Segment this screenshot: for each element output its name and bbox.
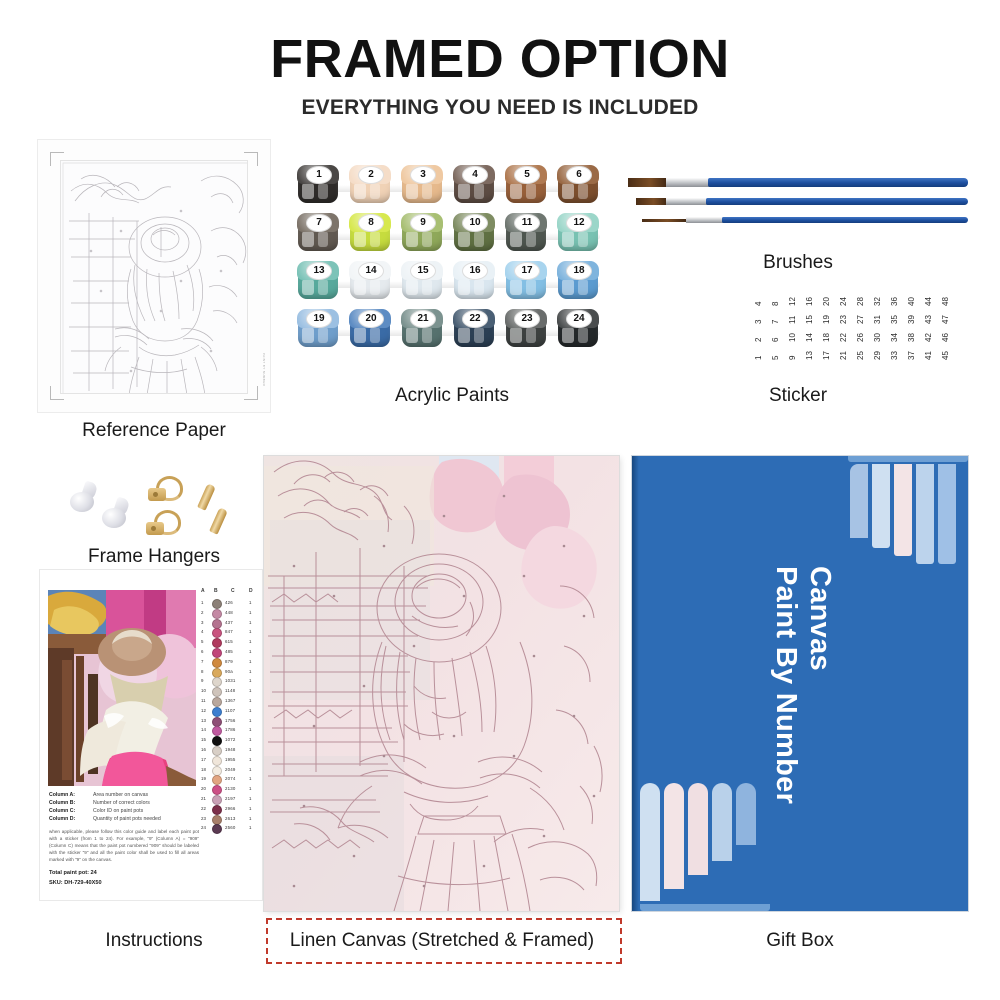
chart-cell-colorid: 437 <box>225 620 233 625</box>
gift-box-image: Canvas Paint By Number <box>632 456 968 911</box>
paint-pot-12[interactable]: 12 <box>556 213 600 253</box>
chart-cell-qty: 1 <box>249 629 251 634</box>
paint-pot-number: 5 <box>514 166 540 184</box>
chart-cell-qty: 1 <box>249 639 251 644</box>
paint-pot-gloss <box>510 183 522 199</box>
chart-row: 1619481 <box>200 745 256 755</box>
reference-paper-image: PAINT BY NUMBER <box>38 140 270 412</box>
caption-brushes: Brushes <box>628 252 968 274</box>
paint-pot-gloss <box>458 327 470 343</box>
gift-box-line1: Canvas <box>803 566 836 671</box>
sticker-number: 23 <box>839 315 848 324</box>
paint-pot-gloss <box>354 231 366 247</box>
chart-cell-colorid: 1367 <box>225 698 236 703</box>
sticker-number: 13 <box>805 351 814 360</box>
paint-pot-15[interactable]: 15 <box>400 261 444 301</box>
sticker-number: 12 <box>788 297 797 306</box>
paint-pot-gloss <box>370 279 380 295</box>
sku-label: SKU: <box>49 880 63 886</box>
paint-pot-number: 24 <box>566 310 592 328</box>
chart-cell-qty: 1 <box>249 806 251 811</box>
chart-cell-qty: 1 <box>249 816 251 821</box>
chart-cell-colorid: 2197 <box>225 796 236 801</box>
paint-pot-gloss <box>302 183 314 199</box>
paint-pot-number: 3 <box>410 166 436 184</box>
sticker-number: 5 <box>771 356 780 360</box>
gift-box-title: Canvas Paint By Number <box>632 456 850 911</box>
paint-pot-row: 192021222324 <box>296 309 608 353</box>
legend-key: Column B: <box>49 800 75 806</box>
chart-cell-area: 13 <box>201 718 206 723</box>
brush-bristles <box>642 219 688 222</box>
paint-pot-9[interactable]: 9 <box>400 213 444 253</box>
chart-cell-qty: 1 <box>249 708 251 713</box>
chart-cell-qty: 1 <box>249 825 251 830</box>
paint-pot-gloss <box>578 231 588 247</box>
paint-pot-5[interactable]: 5 <box>504 165 548 205</box>
chart-row: 2425601 <box>200 823 256 833</box>
paint-pot-number: 10 <box>462 214 488 232</box>
caption-gift-box: Gift Box <box>632 930 968 952</box>
paint-pot-number: 16 <box>462 262 488 280</box>
paint-pot-number: 20 <box>358 310 384 328</box>
sticker-number: 37 <box>907 351 916 360</box>
paint-pot-gloss <box>354 279 366 295</box>
sticker-number: 18 <box>822 333 831 342</box>
chart-cell-area: 11 <box>201 698 206 703</box>
canvas-lineart-svg <box>264 456 619 911</box>
sticker-number: 29 <box>873 351 882 360</box>
paint-pot-gloss <box>578 183 588 199</box>
paint-pot-gloss <box>526 183 536 199</box>
sticker-number: 10 <box>788 333 797 342</box>
paint-pot-gloss <box>318 279 328 295</box>
sticker-number: 15 <box>805 315 814 324</box>
brush-bristles <box>636 198 668 205</box>
chart-cell-area: 24 <box>201 825 206 830</box>
legend-row: Column C:Color ID on paint pots <box>49 808 201 816</box>
chart-cell-qty: 1 <box>249 688 251 693</box>
legend-row: Column B:Number of correct colors <box>49 800 201 808</box>
total-value: 24 <box>91 870 97 876</box>
chart-cell-qty: 1 <box>249 727 251 732</box>
paint-pot-number: 6 <box>566 166 592 184</box>
paint-pot-gloss <box>406 231 418 247</box>
chart-row: 2021301 <box>200 784 256 794</box>
paint-pot-gloss <box>354 183 366 199</box>
caption-reference-paper: Reference Paper <box>38 420 270 442</box>
paint-pot-2[interactable]: 2 <box>348 165 392 205</box>
paint-pot-gloss <box>318 327 328 343</box>
instructions-artwork <box>48 590 196 786</box>
chart-cell-area: 1 <box>201 600 203 605</box>
sticker-sheet: 4812162024283236404448371115192327313539… <box>748 290 956 362</box>
chart-cell-qty: 1 <box>249 767 251 772</box>
paint-pot-10[interactable]: 10 <box>452 213 496 253</box>
sticker-number: 31 <box>873 315 882 324</box>
chart-row: 1719551 <box>200 755 256 765</box>
chart-cell-colorid: 1786 <box>225 727 236 732</box>
sticker-number: 3 <box>754 320 763 324</box>
sticker-number: 33 <box>890 351 899 360</box>
paint-pot-24[interactable]: 24 <box>556 309 600 349</box>
chart-cell-area: 5 <box>201 639 203 644</box>
page-subtitle: EVERYTHING YOU NEED IS INCLUDED <box>0 96 1000 120</box>
d-ring-hanger-icon <box>146 510 176 536</box>
paint-pot-number: 4 <box>462 166 488 184</box>
sticker-number: 20 <box>822 297 831 306</box>
instructions-paragraph: when applicable, please follow this colo… <box>49 828 199 863</box>
chart-cell-qty: 1 <box>249 659 251 664</box>
sticker-number: 38 <box>907 333 916 342</box>
sticker-number: 11 <box>788 316 797 324</box>
sticker-number: 7 <box>771 320 780 324</box>
sticker-number: 36 <box>890 297 899 306</box>
paint-pot-gloss <box>406 279 418 295</box>
sticker-number: 48 <box>941 297 950 306</box>
sticker-number: 21 <box>839 351 848 360</box>
chart-cell-area: 19 <box>201 776 206 781</box>
chart-row: 1510721 <box>200 735 256 745</box>
chart-header-c: C <box>231 588 235 594</box>
paint-pot-number: 23 <box>514 310 540 328</box>
paint-pot-gloss <box>318 183 328 199</box>
sticker-number: 40 <box>907 297 916 306</box>
legend-value: Color ID on paint pots <box>93 808 143 814</box>
paint-pot-gloss <box>474 231 484 247</box>
chart-cell-colorid: 615 <box>225 639 233 644</box>
chart-cell-qty: 1 <box>249 786 251 791</box>
chart-cell-qty: 1 <box>249 600 251 605</box>
paint-pot-6[interactable]: 6 <box>556 165 600 205</box>
chart-cell-qty: 1 <box>249 698 251 703</box>
chart-cell-area: 9 <box>201 678 203 683</box>
paint-pot-gloss <box>562 183 574 199</box>
linen-canvas-image <box>264 456 619 911</box>
chart-cell-area: 22 <box>201 806 206 811</box>
sticker-number: 19 <box>822 315 831 324</box>
paint-pot-number: 17 <box>514 262 540 280</box>
chart-cell-area: 23 <box>201 816 206 821</box>
sticker-number: 1 <box>754 356 763 360</box>
legend-value: Area number on canvas <box>93 792 148 798</box>
legend-key: Column D: <box>49 816 75 822</box>
legend-row: Column D:Quantity of paint pots needed <box>49 816 201 824</box>
chart-cell-colorid: 2613 <box>225 816 236 821</box>
paint-pot-gloss <box>458 231 470 247</box>
sticker-number: 28 <box>856 297 865 306</box>
paint-pot-number: 14 <box>358 262 384 280</box>
sticker-number: 32 <box>873 297 882 306</box>
instructions-color-chart: A B C D 14261244813437148471561516485178… <box>200 588 256 834</box>
chart-cell-qty: 1 <box>249 757 251 762</box>
paint-pot-number: 1 <box>306 166 332 184</box>
chart-cell-colorid: 879 <box>225 659 233 664</box>
chart-cell-colorid: 1148 <box>225 688 235 693</box>
page-title: FRAMED OPTION <box>0 28 1000 90</box>
sticker-number: 44 <box>924 297 933 306</box>
sticker-number: 17 <box>822 351 831 360</box>
paint-pot-14[interactable]: 14 <box>348 261 392 301</box>
paint-pot-gloss <box>526 231 536 247</box>
chart-cell-area: 14 <box>201 727 206 732</box>
paint-pot-gloss <box>422 327 432 343</box>
paint-pot-gloss <box>526 327 536 343</box>
chart-header-row: A B C D <box>200 588 256 597</box>
chart-row: 2326131 <box>200 814 256 824</box>
paint-pot-13[interactable]: 13 <box>296 261 340 301</box>
chart-row: 1211071 <box>200 706 256 716</box>
chart-cell-area: 8 <box>201 669 203 674</box>
paint-pot-3[interactable]: 3 <box>400 165 444 205</box>
chart-row: 24481 <box>200 608 256 618</box>
sku-value: DH-729-40X50 <box>64 880 101 886</box>
chart-cell-qty: 1 <box>249 610 251 615</box>
sticker-number: 35 <box>890 315 899 324</box>
chart-cell-area: 15 <box>201 737 206 742</box>
chart-cell-colorid: 847 <box>225 629 233 634</box>
chart-cell-area: 3 <box>201 620 203 625</box>
chart-cell-colorid: 426 <box>225 600 233 605</box>
paint-pot-number: 21 <box>410 310 436 328</box>
chart-row: 78791 <box>200 657 256 667</box>
chart-cell-area: 20 <box>201 786 206 791</box>
caption-acrylic-paints: Acrylic Paints <box>296 385 608 407</box>
chart-cell-colorid: 1756 <box>225 718 236 723</box>
chart-cell-colorid: 1031 <box>225 678 236 683</box>
sticker-number: 45 <box>941 351 950 360</box>
brush-flat <box>628 178 968 187</box>
instructions-legend: Column A:Area number on canvasColumn B:N… <box>49 792 201 824</box>
sticker-number: 42 <box>924 333 933 342</box>
chart-cell-colorid: 2130 <box>225 786 236 791</box>
chart-row: 56151 <box>200 637 256 647</box>
caption-frame-hangers: Frame Hangers <box>38 546 270 568</box>
chart-cell-qty: 1 <box>249 747 251 752</box>
chart-cell-colorid: 485 <box>225 649 233 654</box>
paint-pot-gloss <box>578 327 588 343</box>
paint-pot-gloss <box>370 183 380 199</box>
instructions-total-paint-pot: Total paint pot: 24 <box>49 870 97 876</box>
legend-row: Column A:Area number on canvas <box>49 792 201 800</box>
chart-row: 14261 <box>200 598 256 608</box>
paint-pot-gloss <box>474 327 484 343</box>
brush-handle <box>706 198 968 205</box>
sticker-number: 47 <box>941 315 950 324</box>
paint-pot-number: 2 <box>358 166 384 184</box>
gift-box-pattern-top <box>848 464 968 564</box>
paint-pot-16[interactable]: 16 <box>452 261 496 301</box>
sticker-number: 6 <box>771 338 780 342</box>
chart-cell-colorid: 2966 <box>225 806 236 811</box>
paint-pot-1[interactable]: 1 <box>296 165 340 205</box>
chart-cell-colorid: 2560 <box>225 825 236 830</box>
paint-pot-gloss <box>458 279 470 295</box>
paint-pot-18[interactable]: 18 <box>556 261 600 301</box>
paint-pot-gloss <box>562 279 574 295</box>
paint-pot-7[interactable]: 7 <box>296 213 340 253</box>
paint-pot-gloss <box>370 231 380 247</box>
wall-plug-icon <box>70 482 96 512</box>
chart-cell-qty: 1 <box>249 718 251 723</box>
brush-ferrule <box>686 217 724 223</box>
sticker-number: 41 <box>924 351 933 360</box>
chart-cell-area: 4 <box>201 629 203 634</box>
brush-round <box>636 198 968 205</box>
product-infographic: FRAMED OPTION EVERYTHING YOU NEED IS INC… <box>0 0 1000 1000</box>
chart-cell-area: 21 <box>201 796 206 801</box>
chart-cell-colorid: 1072 <box>225 737 236 742</box>
paint-pot-number: 18 <box>566 262 592 280</box>
sticker-number: 30 <box>873 333 882 342</box>
sticker-number: 26 <box>856 333 865 342</box>
chart-header-b: B <box>214 588 218 594</box>
paint-pot-4[interactable]: 4 <box>452 165 496 205</box>
brush-ferrule <box>666 198 708 205</box>
paint-pot-gloss <box>474 183 484 199</box>
chart-row: 890a1 <box>200 667 256 677</box>
brush-ferrule <box>666 178 712 187</box>
chart-row: 34371 <box>200 618 256 628</box>
chart-cell-colorid: 1948 <box>225 747 236 752</box>
paint-pot-20[interactable]: 20 <box>348 309 392 349</box>
chart-cell-qty: 1 <box>249 649 251 654</box>
chart-cell-area: 16 <box>201 747 206 752</box>
paint-pot-gloss <box>422 183 432 199</box>
paint-pot-22[interactable]: 22 <box>452 309 496 349</box>
sticker-number: 39 <box>907 315 916 324</box>
chart-row: 1113671 <box>200 696 256 706</box>
d-ring-hanger-icon <box>148 476 178 502</box>
paint-pot-gloss <box>318 231 328 247</box>
sticker-number: 43 <box>924 315 933 324</box>
wall-plug-icon <box>102 498 128 528</box>
reference-lineart <box>60 160 248 394</box>
chart-row: 48471 <box>200 627 256 637</box>
chart-cell-area: 7 <box>201 659 203 664</box>
chart-color-swatch <box>212 824 222 834</box>
paint-pot-row: 789101112 <box>296 213 608 257</box>
screw-icon <box>209 507 228 534</box>
sticker-number: 27 <box>856 315 865 324</box>
paint-pot-number: 19 <box>306 310 332 328</box>
sticker-number: 22 <box>839 333 848 342</box>
paint-pot-gloss <box>422 231 432 247</box>
caption-sticker: Sticker <box>628 385 968 407</box>
chart-cell-area: 2 <box>201 610 203 615</box>
brush-handle <box>708 178 968 187</box>
chart-cell-qty: 1 <box>249 776 251 781</box>
chart-row: 1011481 <box>200 686 256 696</box>
brushes-group <box>628 170 968 250</box>
paint-pot-number: 13 <box>306 262 332 280</box>
caption-instructions: Instructions <box>38 930 270 952</box>
sticker-number: 2 <box>754 338 763 342</box>
lineart-svg <box>61 161 248 394</box>
paint-pot-gloss <box>510 327 522 343</box>
sticker-number: 46 <box>941 333 950 342</box>
paint-pot-gloss <box>354 327 366 343</box>
sticker-number: 9 <box>788 356 797 360</box>
brush-bristles <box>628 178 668 187</box>
chart-cell-qty: 1 <box>249 796 251 801</box>
sticker-number: 14 <box>805 333 814 342</box>
reference-paper-side-mark: PAINT BY NUMBER <box>262 353 266 386</box>
screw-icon <box>197 483 216 510</box>
paint-pot-gloss <box>510 231 522 247</box>
chart-cell-area: 18 <box>201 767 206 772</box>
paint-pot-8[interactable]: 8 <box>348 213 392 253</box>
gift-box-line2: Paint By Number <box>769 566 802 804</box>
paint-pot-row: 123456 <box>296 165 608 209</box>
chart-row: 2229661 <box>200 804 256 814</box>
chart-cell-colorid: 448 <box>225 610 233 615</box>
sticker-number: 16 <box>805 297 814 306</box>
paint-pot-gloss <box>526 279 536 295</box>
frame-hangers-group <box>62 468 252 548</box>
paint-pot-gloss <box>562 231 574 247</box>
paint-pot-gloss <box>422 279 432 295</box>
paint-pot-gloss <box>302 327 314 343</box>
chart-cell-colorid: 2049 <box>225 767 236 772</box>
legend-key: Column C: <box>49 808 75 814</box>
paint-pot-number: 12 <box>566 214 592 232</box>
sticker-number: 34 <box>890 333 899 342</box>
brush-liner <box>642 217 968 223</box>
sticker-number: 8 <box>771 302 780 306</box>
paint-pot-23[interactable]: 23 <box>504 309 548 349</box>
instructions-sheet: A B C D 14261244813437148471561516485178… <box>40 570 262 900</box>
paint-pot-21[interactable]: 21 <box>400 309 444 349</box>
paint-pot-gloss <box>302 279 314 295</box>
paint-pot-row: 131415161718 <box>296 261 608 305</box>
paint-pot-number: 22 <box>462 310 488 328</box>
chart-cell-area: 12 <box>201 708 206 713</box>
sticker-number: 24 <box>839 297 848 306</box>
chart-cell-area: 6 <box>201 649 203 654</box>
chart-row: 1820491 <box>200 765 256 775</box>
sticker-number: 4 <box>754 302 763 306</box>
paint-pot-gloss <box>510 279 522 295</box>
paint-pot-gloss <box>406 327 418 343</box>
chart-cell-area: 10 <box>201 688 206 693</box>
chart-row: 910311 <box>200 676 256 686</box>
instructions-art-svg <box>48 590 196 786</box>
paint-pot-17[interactable]: 17 <box>504 261 548 301</box>
chart-row: 1417861 <box>200 725 256 735</box>
caption-linen-canvas: Linen Canvas (Stretched & Framed) <box>266 930 618 952</box>
paint-pot-number: 11 <box>514 214 540 232</box>
chart-row: 1317561 <box>200 716 256 726</box>
chart-cell-colorid: 1107 <box>225 708 235 713</box>
brush-handle <box>722 217 968 223</box>
chart-cell-colorid: 90a <box>225 669 233 674</box>
paint-pot-19[interactable]: 19 <box>296 309 340 349</box>
paint-pot-11[interactable]: 11 <box>504 213 548 253</box>
sticker-number: 25 <box>856 351 865 360</box>
chart-cell-qty: 1 <box>249 678 251 683</box>
chart-header-a: A <box>201 588 205 594</box>
chart-row: 2121971 <box>200 794 256 804</box>
paint-pot-gloss <box>370 327 380 343</box>
acrylic-paints-group: 123456789101112131415161718192021222324 <box>296 165 608 365</box>
paint-pot-number: 8 <box>358 214 384 232</box>
paint-pot-gloss <box>458 183 470 199</box>
legend-key: Column A: <box>49 792 75 798</box>
paint-pot-gloss <box>474 279 484 295</box>
instructions-sku: SKU: DH-729-40X50 <box>49 880 102 886</box>
chart-cell-colorid: 2074 <box>225 776 236 781</box>
